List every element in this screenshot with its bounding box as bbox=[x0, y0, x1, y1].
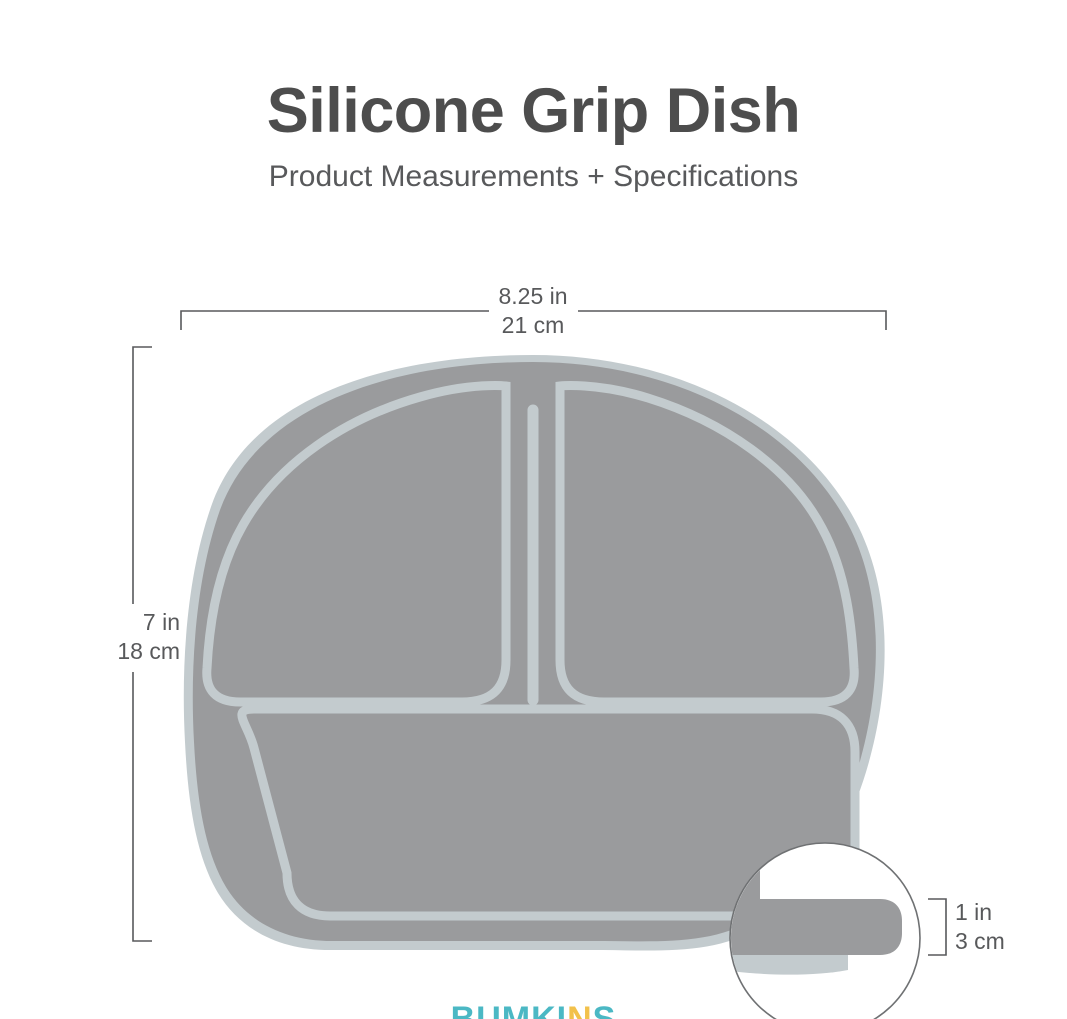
thickness-imperial: 1 in bbox=[955, 899, 992, 925]
height-imperial: 7 in bbox=[143, 609, 180, 635]
compartment-top-right bbox=[560, 386, 854, 702]
width-imperial: 8.25 in bbox=[498, 283, 567, 309]
thickness-dimension-bracket bbox=[928, 899, 946, 955]
brand-logo-accent: N bbox=[567, 1002, 593, 1019]
brand-logo: BUMKINS bbox=[0, 1002, 1067, 1019]
dish-compartments bbox=[207, 386, 855, 916]
brand-logo-text: BUMKINS bbox=[451, 1002, 617, 1019]
thickness-metric: 3 cm bbox=[955, 927, 1065, 956]
product-diagram bbox=[0, 0, 1067, 1019]
width-dimension-label: 8.25 in 21 cm bbox=[448, 282, 618, 341]
height-dimension-label: 7 in 18 cm bbox=[40, 608, 180, 667]
brand-logo-end: S bbox=[593, 1002, 617, 1019]
thickness-dimension-label: 1 in 3 cm bbox=[955, 898, 1065, 957]
height-metric: 18 cm bbox=[40, 637, 180, 666]
compartment-top-left bbox=[207, 386, 506, 702]
detail-suction-lip bbox=[700, 952, 848, 975]
width-metric: 21 cm bbox=[448, 311, 618, 340]
brand-logo-start: BUMKI bbox=[451, 1002, 567, 1019]
